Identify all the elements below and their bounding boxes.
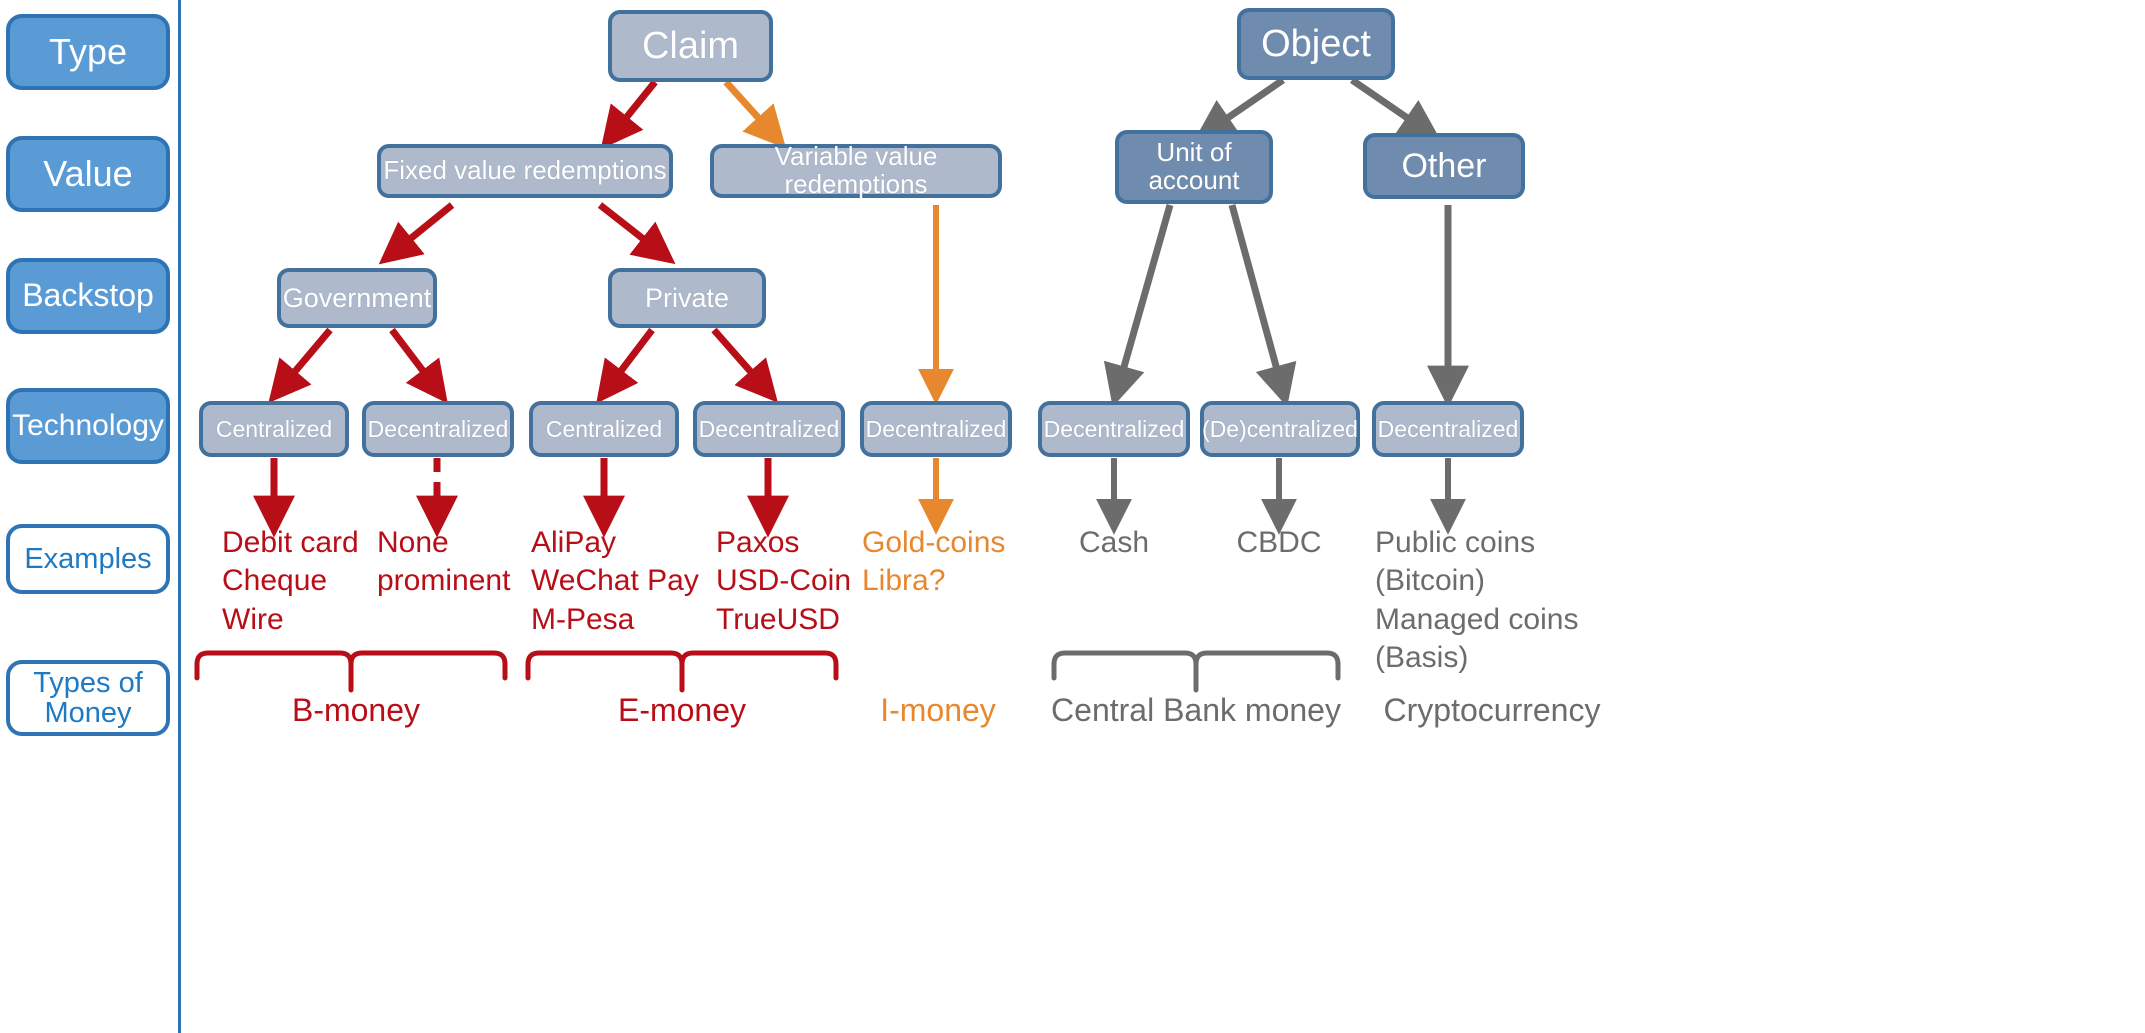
edge-private-to-centralized [608, 330, 652, 388]
edge-unit-to-decentralized [1118, 205, 1170, 388]
brace-central-bank-shape [1054, 653, 1338, 690]
node-label: Variable value redemptions [714, 143, 998, 198]
node-private[interactable]: Private [608, 268, 766, 328]
node-label: Centralized [546, 417, 662, 441]
edge-fixed-to-government [394, 205, 452, 252]
node-tech-other-decentralized[interactable]: Decentralized [1372, 401, 1524, 457]
node-tech-private-decentralized[interactable]: Decentralized [693, 401, 845, 457]
node-label: Unit of account [1119, 139, 1269, 194]
money-type-cryptocurrency: Cryptocurrency [1362, 690, 1622, 731]
example-debit-card: Debit card Cheque Wire [222, 524, 402, 639]
legend-label: Backstop [22, 279, 154, 313]
edge-object-to-other [1352, 80, 1425, 130]
node-unit-of-account[interactable]: Unit of account [1115, 130, 1273, 204]
example-public-coins: Public coins (Bitcoin) Managed coins (Ba… [1375, 524, 1635, 678]
node-label: Decentralized [1378, 417, 1519, 441]
node-label: Claim [642, 26, 739, 66]
node-label: (De)centralized [1202, 417, 1358, 441]
node-tech-private-centralized[interactable]: Centralized [529, 401, 679, 457]
node-tech-gov-decentralized[interactable]: Decentralized [362, 401, 514, 457]
edge-government-to-centralized [281, 330, 330, 388]
node-label: Decentralized [1044, 417, 1185, 441]
node-label: Decentralized [866, 417, 1007, 441]
example-gold-coins: Gold-coins Libra? [862, 524, 1062, 601]
edge-claim-to-variable [726, 82, 773, 134]
node-object[interactable]: Object [1237, 8, 1395, 80]
legend-row-examples: Examples [6, 524, 170, 594]
legend-divider [178, 0, 181, 1033]
node-government[interactable]: Government [277, 268, 437, 328]
legend-label: Types of Money [10, 668, 166, 729]
diagram-canvas: Type Value Backstop Technology Examples … [0, 0, 2145, 1033]
edge-fixed-to-private [600, 205, 660, 252]
legend-row-technology: Technology [6, 388, 170, 464]
node-claim[interactable]: Claim [608, 10, 773, 82]
node-tech-uoa-decentralized[interactable]: Decentralized [1038, 401, 1190, 457]
legend-label: Type [49, 33, 127, 71]
legend-label: Technology [12, 410, 164, 442]
node-variable-value-redemptions[interactable]: Variable value redemptions [710, 144, 1002, 198]
node-tech-uoa-decentralized-paren[interactable]: (De)centralized [1200, 401, 1360, 457]
node-label: Fixed value redemptions [383, 157, 666, 185]
money-type-e-money: E-money [592, 690, 772, 731]
edge-private-to-decentralized [714, 330, 765, 388]
node-other[interactable]: Other [1363, 133, 1525, 199]
node-label: Decentralized [368, 417, 509, 441]
example-cbdc: CBDC [1209, 524, 1349, 562]
node-label: Object [1261, 24, 1371, 64]
edge-government-to-decentralized [392, 330, 436, 388]
legend-label: Value [43, 155, 132, 193]
legend-row-type: Type [6, 14, 170, 90]
node-label: Private [645, 284, 729, 313]
legend-label: Examples [24, 544, 151, 574]
example-none-prominent: None prominent [377, 524, 557, 601]
legend-row-value: Value [6, 136, 170, 212]
legend-row-backstop: Backstop [6, 258, 170, 334]
edge-claim-to-fixed [613, 82, 655, 134]
money-type-i-money: I-money [848, 690, 1028, 731]
brace-e-money-shape [528, 653, 836, 690]
node-tech-gov-centralized[interactable]: Centralized [199, 401, 349, 457]
node-fixed-value-redemptions[interactable]: Fixed value redemptions [377, 144, 673, 198]
money-type-central-bank-money: Central Bank money [1046, 690, 1346, 731]
edge-unit-to-decentralized2 [1232, 205, 1282, 388]
legend-row-types-of-money: Types of Money [6, 660, 170, 736]
edge-object-to-unit [1210, 80, 1283, 130]
node-label: Other [1401, 148, 1486, 184]
example-alipay: AliPay WeChat Pay M-Pesa [531, 524, 731, 639]
example-cash: Cash [1044, 524, 1184, 562]
money-type-b-money: B-money [266, 690, 446, 731]
connector-layer [0, 0, 2145, 1033]
node-label: Centralized [216, 417, 332, 441]
node-tech-variable-decentralized[interactable]: Decentralized [860, 401, 1012, 457]
brace-b-money-shape [197, 653, 505, 690]
node-label: Government [283, 284, 432, 313]
node-label: Decentralized [699, 417, 840, 441]
